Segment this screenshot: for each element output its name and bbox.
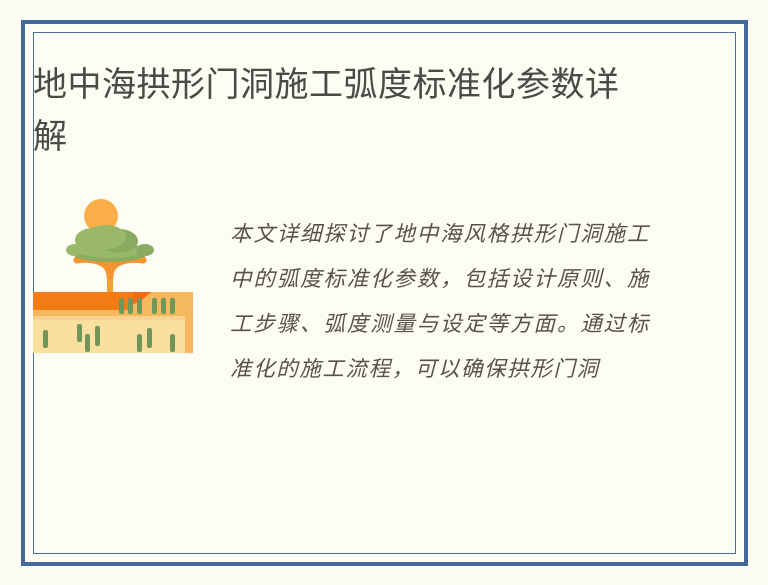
article-card: 地中海拱形门洞施工弧度标准化参数详解 <box>0 0 768 585</box>
tree-canopy <box>66 225 154 262</box>
landscape-buildings <box>33 292 193 353</box>
page-title: 地中海拱形门洞施工弧度标准化参数详解 <box>33 59 633 163</box>
mediterranean-landscape-illustration <box>33 188 193 353</box>
content-row: 本文详细探讨了地中海风格拱形门洞施工中的弧度标准化参数，包括设计原则、施工步骤、… <box>33 172 748 575</box>
article-summary: 本文详细探讨了地中海风格拱形门洞施工中的弧度标准化参数，包括设计原则、施工步骤、… <box>230 212 650 392</box>
